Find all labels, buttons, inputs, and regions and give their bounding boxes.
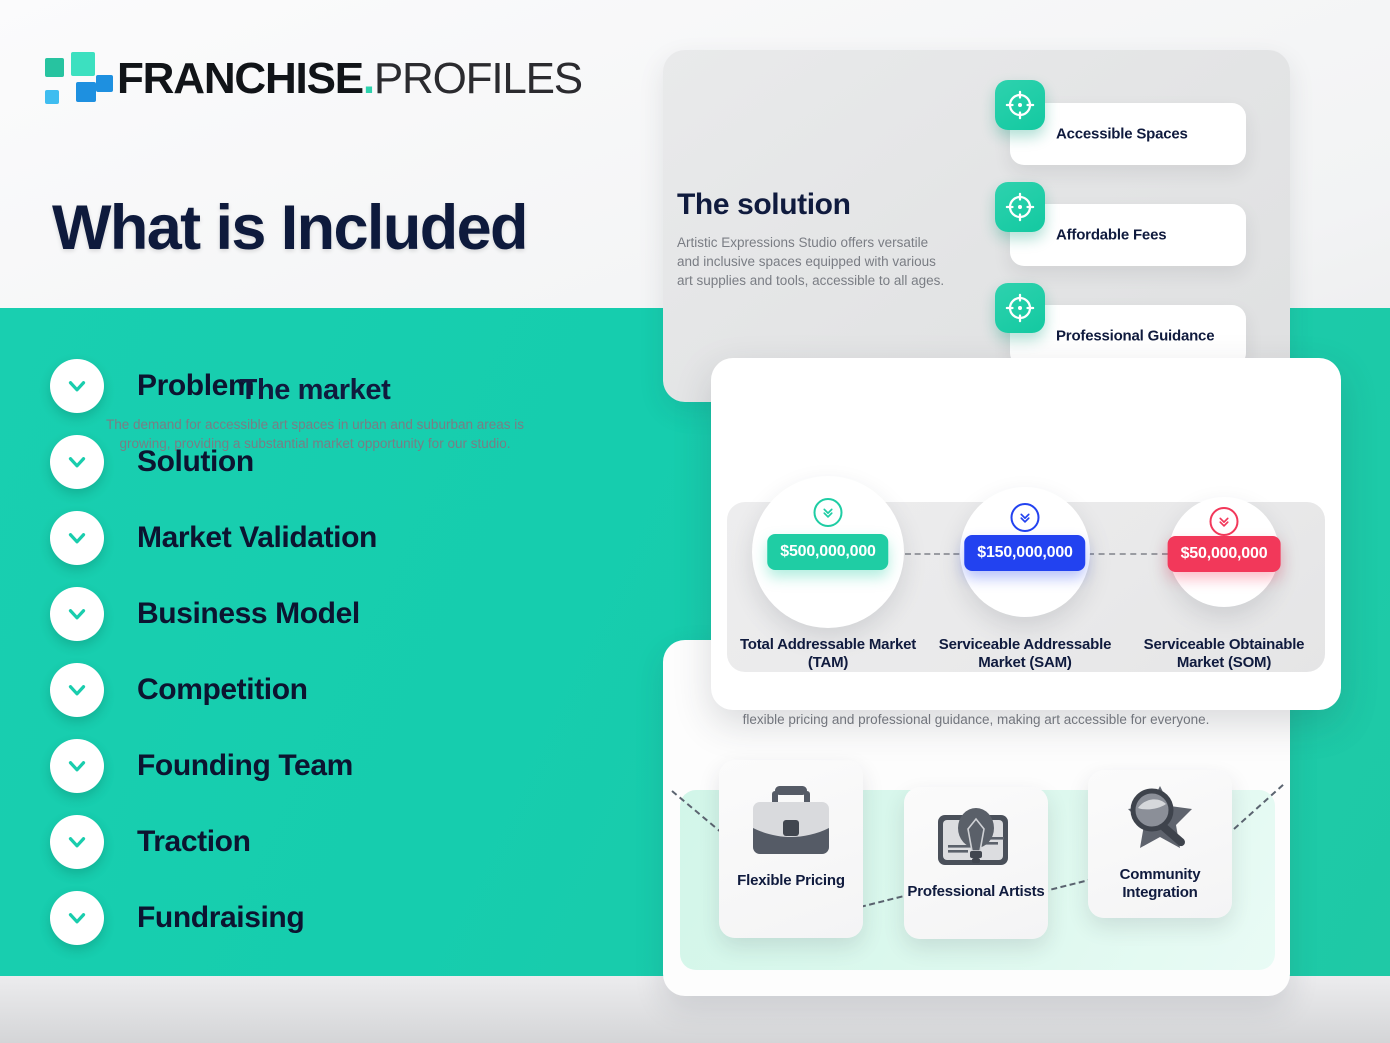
solution-feature-label: Professional Guidance xyxy=(1056,328,1214,345)
double-chevron-down-icon xyxy=(1011,503,1040,532)
solution-description: Artistic Expressions Studio offers versa… xyxy=(677,233,949,290)
bottom-card-flexible-pricing[interactable]: Flexible Pricing xyxy=(719,760,863,938)
bottom-card-label: Professional Artists xyxy=(904,883,1048,901)
double-chevron-down-icon xyxy=(1210,507,1239,536)
slide-preview-stack: flexible pricing and professional guidan… xyxy=(0,0,1390,1043)
bottom-card-label: Community Integration xyxy=(1088,866,1232,902)
solution-title: The solution xyxy=(677,188,851,222)
briefcase-icon xyxy=(745,782,837,860)
bottom-description: flexible pricing and professional guidan… xyxy=(700,710,1252,729)
bottom-card-community-integration[interactable]: Community Integration xyxy=(1088,770,1232,918)
market-description: The demand for accessible art spaces in … xyxy=(80,415,550,453)
market-segment-caption: Total Addressable Market (TAM) xyxy=(728,636,928,672)
double-chevron-down-icon xyxy=(814,498,843,527)
crosshair-target-icon xyxy=(995,182,1045,232)
crosshair-target-icon xyxy=(995,80,1045,130)
market-connector-dash-2 xyxy=(1088,553,1168,555)
solution-feature-label: Affordable Fees xyxy=(1056,227,1166,244)
market-value-pill: $500,000,000 xyxy=(767,534,888,570)
solution-feature-affordable-fees[interactable]: Affordable Fees xyxy=(1010,204,1246,266)
crosshair-target-icon xyxy=(995,283,1045,333)
market-segment-caption: Serviceable Obtainable Market (SOM) xyxy=(1124,636,1324,672)
market-value-pill: $150,000,000 xyxy=(964,535,1085,571)
market-title: The market xyxy=(0,374,630,407)
lightbulb-screen-icon xyxy=(930,801,1022,879)
market-segment-caption: Serviceable Addressable Market (SAM) xyxy=(925,636,1125,672)
solution-feature-label: Accessible Spaces xyxy=(1056,126,1188,143)
bottom-card-label: Flexible Pricing xyxy=(719,872,863,890)
solution-feature-accessible-spaces[interactable]: Accessible Spaces xyxy=(1010,103,1246,165)
market-value-pill: $50,000,000 xyxy=(1168,536,1281,572)
bottom-card-professional-artists[interactable]: Professional Artists xyxy=(904,787,1048,939)
magnifier-star-icon xyxy=(1114,782,1206,860)
